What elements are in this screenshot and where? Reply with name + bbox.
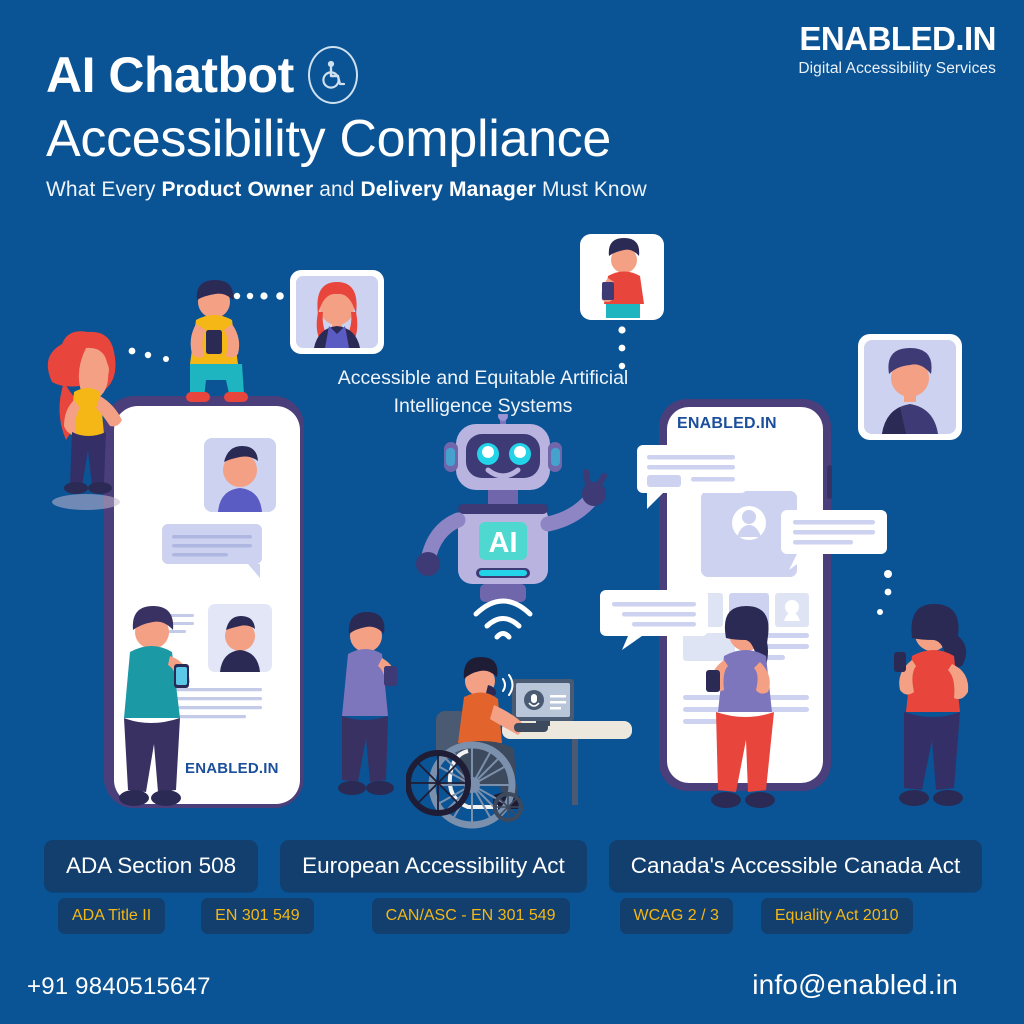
footer-email-address[interactable]: info@enabled.in [752, 969, 958, 1001]
person-man-walking-left [322, 610, 408, 822]
act-chip-canada-accessible-canada-act[interactable]: Canada's Accessible Canada Act [609, 840, 983, 892]
infographic-poster: AI [0, 0, 1024, 1024]
chat-bubble-bottom-left [598, 588, 710, 652]
subtitle-bold-product-owner: Product Owner [161, 178, 313, 201]
person-woman-redtop-phone [886, 602, 992, 822]
subtitle-prefix: What Every [46, 178, 161, 201]
acts-row: ADA Section 508 European Accessibility A… [44, 840, 982, 892]
footer-phone-number[interactable]: +91 9840515647 [27, 973, 211, 1001]
robot-ai-label: AI [489, 527, 518, 559]
person-man-teal-phone [108, 604, 208, 820]
standard-chip-wcag-2-3[interactable]: WCAG 2 / 3 [620, 898, 733, 934]
center-caption: Accessible and Equitable Artificial Inte… [318, 365, 648, 420]
headline-subtitle: What Every Product Owner and Delivery Ma… [46, 178, 647, 202]
standard-chip-can-asc-en-301-549[interactable]: CAN/ASC - EN 301 549 [372, 898, 570, 934]
wheelchair-accessibility-icon [308, 46, 358, 104]
avatar-card-man-red [578, 232, 666, 322]
headline-line-2: Accessibility Compliance [46, 110, 647, 168]
headline-block: AI Chatbot Accessibility Compliance What… [46, 46, 647, 202]
dots-left-long [232, 288, 290, 304]
ai-robot-illustration: AI [388, 414, 618, 644]
brand-logo: ENABLED.IN Digital Accessibility Service… [798, 22, 996, 78]
chat-bubble-top-left [635, 443, 751, 511]
avatar-card-woman [288, 268, 386, 356]
subtitle-bold-delivery-manager: Delivery Manager [361, 178, 537, 201]
standard-chip-en-301-549[interactable]: EN 301 549 [201, 898, 314, 934]
standard-chip-equality-act-2010[interactable]: Equality Act 2010 [761, 898, 913, 934]
subtitle-middle: and [313, 178, 360, 201]
standard-chip-ada-title-ii[interactable]: ADA Title II [58, 898, 165, 934]
dots-right-vertical [874, 568, 896, 628]
avatar-card-man-navy [856, 332, 964, 442]
person-woman-redpants-phone [698, 604, 808, 824]
chat-bubble-right [779, 508, 889, 570]
standards-row: ADA Title II EN 301 549 CAN/ASC - EN 301… [58, 898, 978, 934]
left-phone-watermark: ENABLED.IN [185, 760, 279, 777]
right-phone-watermark: ENABLED.IN [677, 415, 777, 433]
dots-left-small [126, 345, 176, 363]
person-wheelchair-user-desk [406, 655, 636, 837]
act-chip-ada-section-508[interactable]: ADA Section 508 [44, 840, 258, 892]
brand-name: ENABLED.IN [798, 22, 996, 55]
brand-tagline: Digital Accessibility Services [798, 60, 996, 78]
act-chip-european-accessibility-act[interactable]: European Accessibility Act [280, 840, 587, 892]
subtitle-suffix: Must Know [536, 178, 647, 201]
headline-line-1: AI Chatbot [46, 50, 294, 100]
